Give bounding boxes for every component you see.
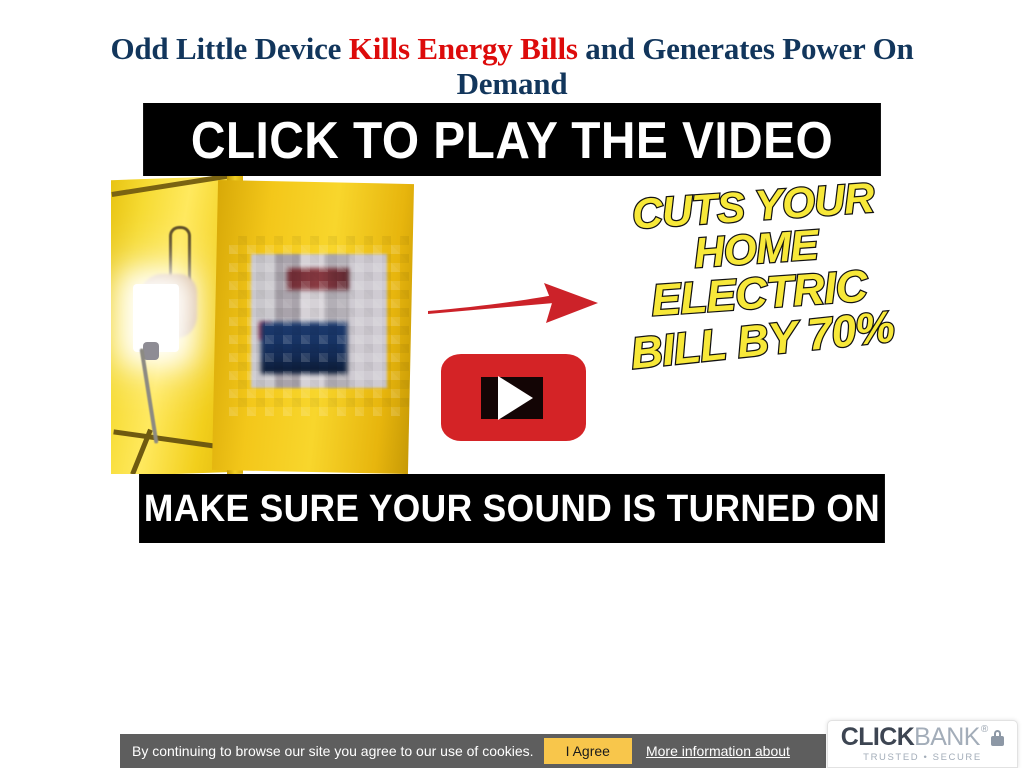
clickbank-bank-text: BANK [914,725,980,750]
cookie-message: By continuing to browse our site you agr… [132,743,534,759]
red-arrow-icon [426,281,606,331]
clickbank-tagline: TRUSTED • SECURE [863,752,982,763]
cookie-consent-bar: By continuing to browse our site you agr… [120,734,826,768]
registered-trademark-symbol: ® [981,725,988,735]
i-agree-button[interactable]: I Agree [544,738,632,764]
clickbank-wordmark: CLICKBANK® [841,725,1004,750]
lock-icon [991,730,1004,746]
clickbank-trust-badge[interactable]: CLICKBANK® TRUSTED • SECURE [827,720,1018,768]
promo-text: CUTS YOUR HOME ELECTRIC BILL BY 70% [604,176,913,409]
video-thumbnail[interactable]: CUTS YOUR HOME ELECTRIC BILL BY 70% [111,176,913,474]
landing-page: Odd Little Device Kills Energy Bills and… [0,0,1024,768]
pixelation-overlay [229,236,409,416]
plug [143,342,159,360]
headline-part-1: Odd Little Device [110,31,348,66]
product-photo [111,176,416,474]
more-information-link[interactable]: More information about [646,743,790,759]
video-bottom-banner: MAKE SURE YOUR SOUND IS TURNED ON [139,474,885,543]
clickbank-click-text: CLICK [841,725,914,750]
play-triangle-icon [498,376,533,420]
video-top-banner: CLICK TO PLAY THE VIDEO [143,103,881,176]
headline-highlight: Kills Energy Bills [349,31,578,66]
play-button[interactable] [441,354,586,441]
page-title: Odd Little Device Kills Energy Bills and… [62,31,962,101]
video-player[interactable]: CLICK TO PLAY THE VIDEO [111,103,913,543]
